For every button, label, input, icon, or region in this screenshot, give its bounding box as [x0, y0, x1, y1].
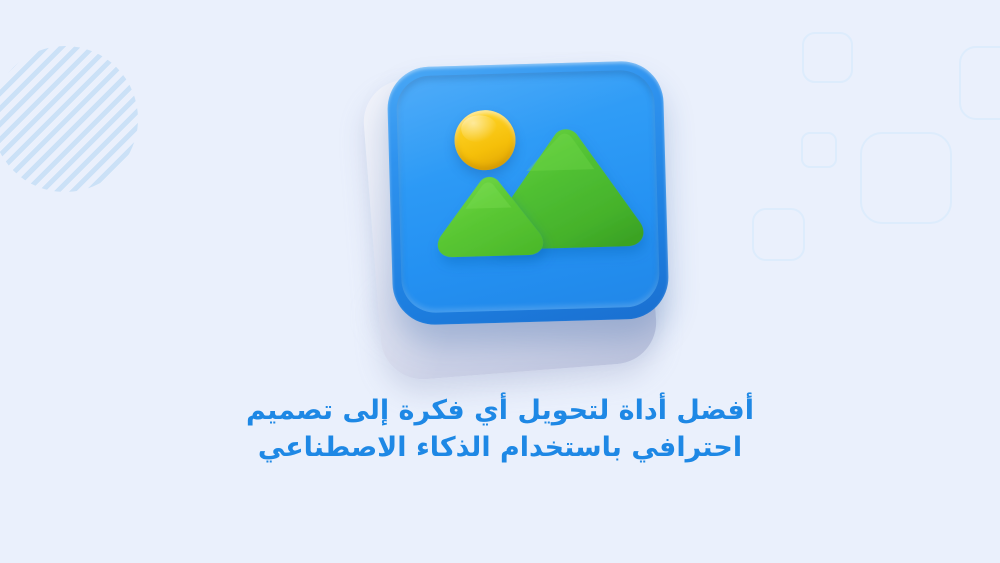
front-card-face — [396, 69, 661, 313]
card-sheen — [396, 69, 661, 195]
deco-square-4 — [860, 132, 952, 224]
deco-square-2 — [959, 46, 1000, 120]
mountains-group — [396, 69, 661, 313]
deco-square-3 — [801, 132, 837, 168]
headline-line-2: احترافي باستخدام الذكاء الاصطناعي — [0, 429, 1000, 466]
image-placeholder-3d-icon — [330, 48, 690, 378]
headline-line-1: أفضل أداة لتحويل أي فكرة إلى تصميم — [0, 392, 1000, 429]
sun-icon — [454, 109, 517, 171]
front-card — [386, 60, 669, 326]
striped-circle-decoration — [0, 46, 138, 192]
headline: أفضل أداة لتحويل أي فكرة إلى تصميم احترا… — [0, 392, 1000, 466]
banner-canvas: أفضل أداة لتحويل أي فكرة إلى تصميم احترا… — [0, 0, 1000, 563]
deco-square-1 — [802, 32, 853, 83]
deco-square-5 — [752, 208, 805, 261]
mountain-small — [436, 175, 543, 257]
